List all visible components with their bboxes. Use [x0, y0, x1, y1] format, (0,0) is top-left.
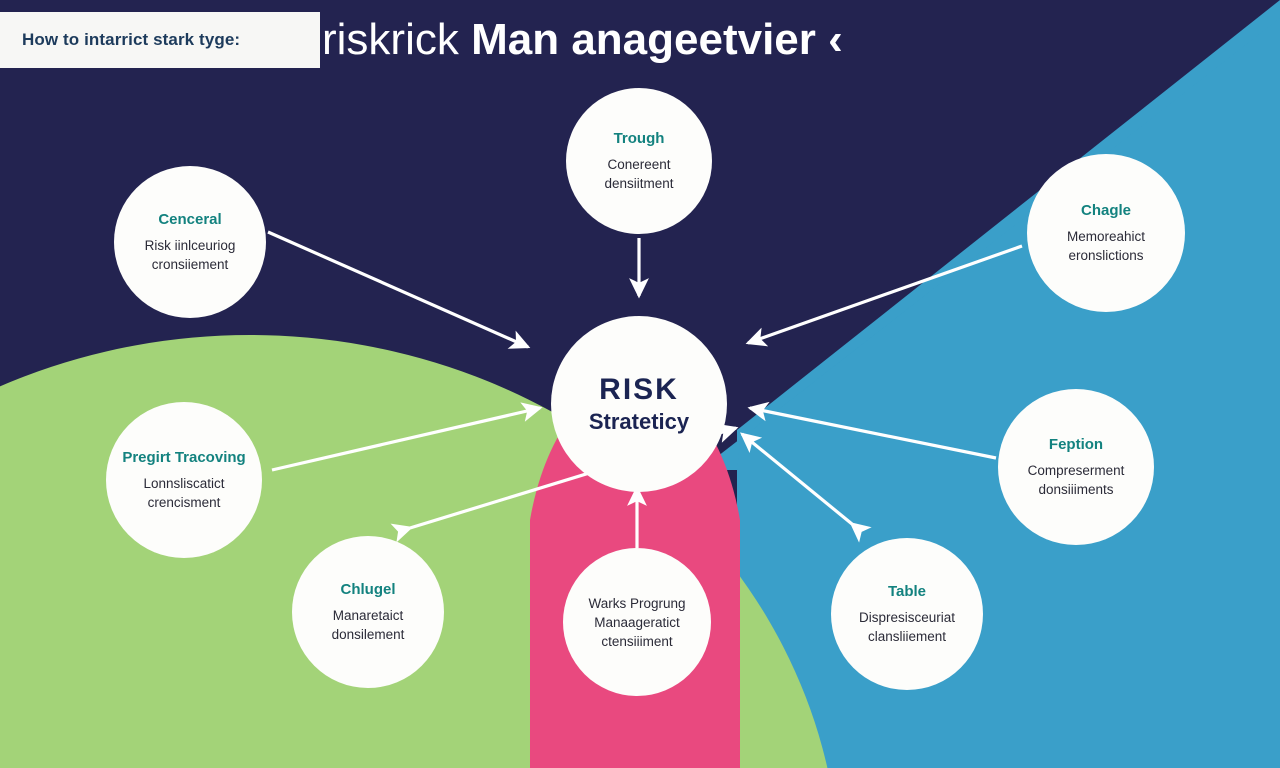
node-warks-progrung-desc: Manaageratict ctensiiiment — [563, 613, 711, 651]
node-chagle[interactable]: Chagle Memoreahict eronslictions — [1027, 154, 1185, 312]
header-badge: How to intarrict stark tyge: — [0, 12, 320, 68]
node-pregirt-tracoving[interactable]: Pregirt Tracoving Lonnsliscatict crencis… — [106, 402, 262, 558]
node-cenceral-title: Cenceral — [158, 210, 221, 229]
node-table[interactable]: Table Dispresisceuriat clansliiement — [831, 538, 983, 690]
node-cenceral[interactable]: Cenceral Risk iinlceuriog cronsiiement — [114, 166, 266, 318]
hub-node-risk-strategy[interactable]: RISK Strateticy — [551, 316, 727, 492]
node-warks-progrung[interactable]: Warks Progrung Manaageratict ctensiiimen… — [563, 548, 711, 696]
node-chlugel-desc: Manaretaict donsilement — [292, 606, 444, 644]
node-table-title: Table — [888, 582, 926, 601]
node-table-desc: Dispresisceuriat clansliiement — [831, 608, 983, 646]
node-chlugel[interactable]: Chlugel Manaretaict donsilement — [292, 536, 444, 688]
diagram-header: How to intarrict stark tyge: riskrick Ma… — [0, 0, 1280, 80]
page-title-prefix: riskrick — [322, 15, 471, 64]
node-chlugel-title: Chlugel — [341, 580, 396, 599]
node-trough-desc: Conereent densiitment — [566, 155, 712, 193]
node-pregirt-tracoving-desc: Lonnsliscatict crencisment — [106, 474, 262, 512]
node-pregirt-tracoving-title: Pregirt Tracoving — [122, 448, 245, 467]
header-badge-label: How to intarrict stark tyge: — [0, 30, 240, 50]
node-trough-title: Trough — [614, 129, 665, 148]
node-chagle-desc: Memoreahict eronslictions — [1027, 227, 1185, 265]
page-title-main: Man anageetvier ‹ — [471, 15, 843, 64]
node-feption[interactable]: Feption Compreserment donsiiiments — [998, 389, 1154, 545]
hub-kicker: RISK — [599, 372, 679, 408]
node-chagle-title: Chagle — [1081, 201, 1131, 220]
hub-subtitle: Strateticy — [589, 408, 689, 436]
diagram-canvas: How to intarrict stark tyge: riskrick Ma… — [0, 0, 1280, 768]
node-feption-title: Feption — [1049, 435, 1103, 454]
page-title: riskrick Man anageetvier ‹ — [322, 6, 843, 74]
node-cenceral-desc: Risk iinlceuriog cronsiiement — [114, 236, 266, 274]
node-trough[interactable]: Trough Conereent densiitment — [566, 88, 712, 234]
node-warks-progrung-title: Warks Progrung — [588, 594, 685, 613]
node-feption-desc: Compreserment donsiiiments — [998, 461, 1154, 499]
